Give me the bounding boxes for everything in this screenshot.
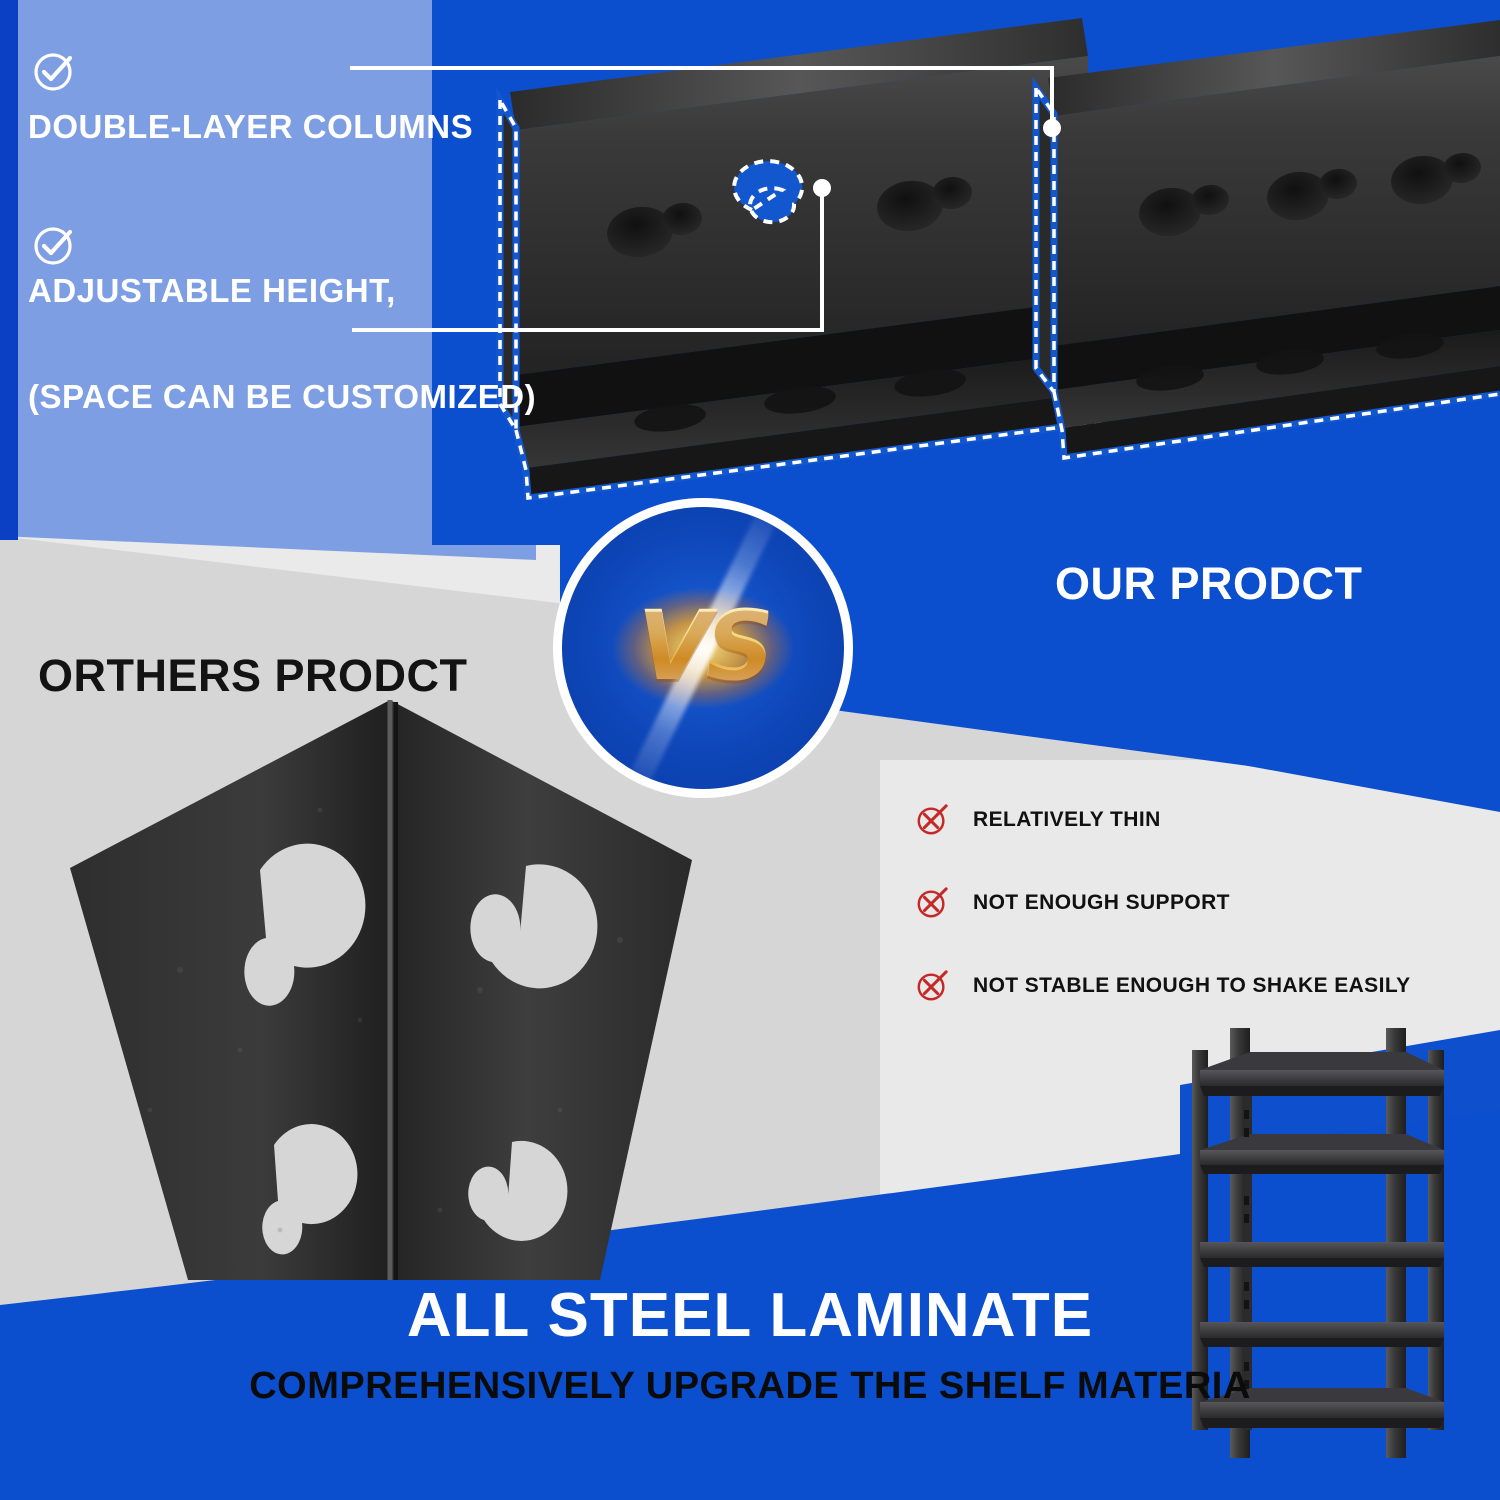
feature-label-1: DOUBLE-LAYER COLUMNS (28, 108, 473, 146)
feature-label-2: ADJUSTABLE HEIGHT, (28, 272, 396, 310)
check-circle-icon (30, 222, 76, 268)
vs-label: VS (637, 590, 768, 702)
con-item: RELATIVELY THIN (915, 800, 1455, 840)
cross-circle-icon (915, 803, 949, 837)
banner-title: ALL STEEL LAMINATE (0, 1280, 1500, 1351)
con-item: NOT STABLE ENOUGH TO SHAKE EASILY (915, 966, 1455, 1006)
infographic-root: DOUBLE-LAYER COLUMNS ADJUSTABLE HEIGHT, … (0, 0, 1500, 1500)
check-circle-icon (30, 48, 76, 94)
con-label: NOT STABLE ENOUGH TO SHAKE EASILY (973, 974, 1411, 998)
vs-badge: VS (553, 498, 853, 798)
bottom-banner: ALL STEEL LAMINATE COMPREHENSIVELY UPGRA… (0, 1190, 1500, 1500)
others-product-heading: ORTHERS PRODCT (38, 650, 468, 702)
banner-subtitle: COMPREHENSIVELY UPGRADE THE SHELF MATERI… (0, 1365, 1500, 1408)
con-item: NOT ENOUGH SUPPORT (915, 883, 1455, 923)
cross-circle-icon (915, 969, 949, 1003)
feature-label-3: (SPACE CAN BE CUSTOMIZED) (28, 378, 536, 416)
con-label: RELATIVELY THIN (973, 808, 1161, 832)
con-label: NOT ENOUGH SUPPORT (973, 891, 1230, 915)
cross-circle-icon (915, 886, 949, 920)
our-product-heading: OUR PRODCT (1055, 558, 1363, 610)
